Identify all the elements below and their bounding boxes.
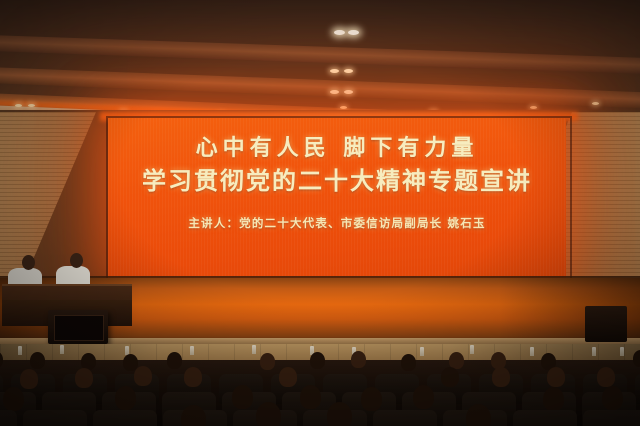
- theater-seat: [635, 374, 640, 404]
- water-bottle: [60, 345, 64, 354]
- audience-head: [602, 386, 623, 410]
- ceiling-spotlight: [340, 106, 347, 109]
- ceiling-spotlight: [348, 30, 359, 35]
- audience-head: [75, 368, 93, 388]
- theater-seat: [0, 410, 17, 426]
- ceiling-spotlight: [530, 106, 537, 109]
- audience-head: [441, 367, 459, 387]
- audience-head: [413, 385, 434, 409]
- ceiling-spotlight: [334, 30, 345, 35]
- water-bottle: [252, 345, 256, 354]
- audience-head: [115, 386, 136, 410]
- stack-speaker-right: [585, 306, 627, 342]
- audience-head: [20, 369, 38, 389]
- audience-head: [300, 385, 321, 409]
- floor-monitor-speaker: [48, 310, 108, 344]
- ceiling-spotlight: [344, 90, 353, 94]
- audience-head: [279, 367, 297, 387]
- water-bottle: [190, 346, 194, 355]
- audience-head: [30, 352, 45, 369]
- audience-head: [232, 385, 253, 409]
- audience-head: [167, 352, 182, 369]
- audience-head: [543, 387, 564, 411]
- audience-head: [310, 352, 325, 369]
- theater-seat: [93, 410, 157, 426]
- audience-head: [633, 350, 640, 367]
- water-bottle: [620, 347, 624, 356]
- water-bottle: [530, 347, 534, 356]
- ceiling-spotlight: [28, 104, 35, 107]
- ceiling-spotlight: [344, 69, 353, 73]
- audience-head: [547, 367, 565, 387]
- theater-seat: [513, 410, 577, 426]
- audience-head: [492, 367, 510, 387]
- ceiling-spotlight: [330, 69, 339, 73]
- audience-head: [327, 402, 352, 426]
- water-bottle: [18, 346, 22, 355]
- audience-head: [256, 402, 281, 426]
- ceiling-spotlight: [592, 102, 599, 105]
- audience-head: [260, 353, 275, 370]
- theater-seat: [23, 410, 87, 426]
- audience-head: [597, 367, 615, 387]
- water-bottle: [420, 347, 424, 356]
- audience-head: [401, 354, 416, 371]
- theater-seat: [583, 410, 640, 426]
- monitor-grille: [54, 315, 104, 341]
- water-bottle: [592, 347, 596, 356]
- person-head: [22, 255, 35, 270]
- audience-head: [3, 387, 24, 411]
- audience-head: [184, 367, 202, 387]
- screen-frame: [106, 116, 572, 286]
- audience-head: [351, 351, 366, 368]
- ceiling-spotlight: [330, 90, 339, 94]
- water-bottle: [470, 345, 474, 354]
- audience-head: [134, 366, 152, 386]
- audience-head: [361, 387, 382, 411]
- ceiling-spotlight: [15, 104, 22, 107]
- ceiling-band-1: [0, 34, 640, 76]
- person-head: [70, 253, 83, 268]
- auditorium-photo: 心中有人民 脚下有力量 学习贯彻党的二十大精神专题宣讲 主讲人：党的二十大代表、…: [0, 0, 640, 426]
- theater-seat: [373, 410, 437, 426]
- ceiling: [0, 0, 640, 118]
